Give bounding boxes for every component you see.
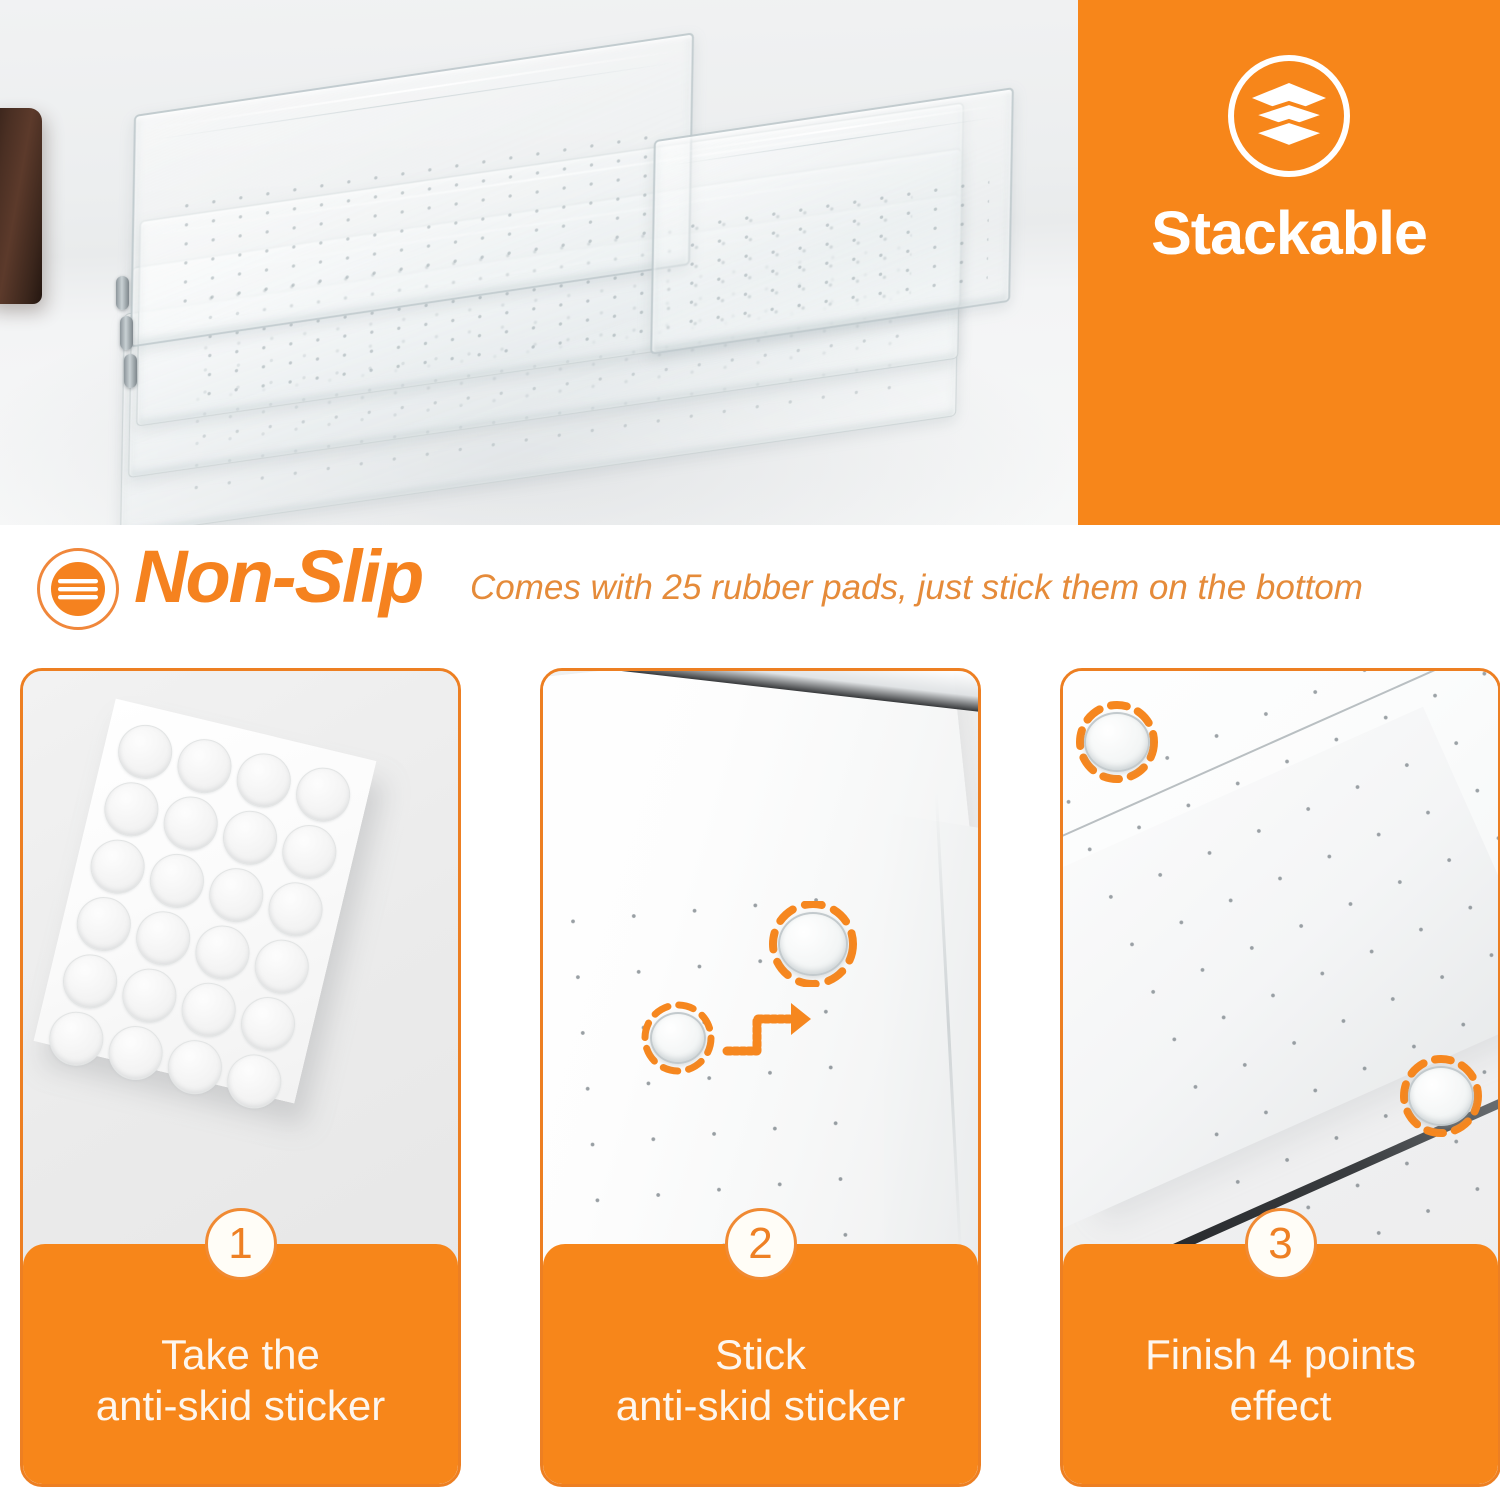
rubber-pad xyxy=(249,934,314,999)
tray-rim-shadow-line xyxy=(150,62,678,141)
rubber-pad xyxy=(263,877,328,942)
rubber-pad xyxy=(231,748,296,813)
tray-rim-shadow-line xyxy=(669,117,997,167)
rubber-pad xyxy=(71,891,136,956)
tray-edge-clip xyxy=(124,354,137,388)
tray-rim-highlight xyxy=(146,49,682,130)
step-3-caption-bar: 3 Finish 4 points effect xyxy=(1063,1244,1498,1484)
tray-edge-clip xyxy=(116,276,129,310)
step-3-image xyxy=(1063,671,1498,1284)
rubber-pad xyxy=(650,1012,706,1064)
step-1-caption-bar: 1 Take the anti-skid sticker xyxy=(23,1244,458,1484)
product-infographic-page: Stackable Non-Slip Comes with 25 rubber … xyxy=(0,0,1500,1487)
non-slip-lines-circle-icon xyxy=(37,548,119,630)
step-3-badge: 3 xyxy=(1245,1208,1317,1280)
highlighted-pad-top-left xyxy=(1073,701,1161,783)
product-photo xyxy=(0,0,1078,525)
stackable-title: Stackable xyxy=(1151,203,1427,264)
step-1-caption-text: Take the anti-skid sticker xyxy=(96,1329,385,1431)
rubber-pad xyxy=(176,977,241,1042)
tray-open-short xyxy=(650,87,1014,355)
rubber-pad xyxy=(172,734,237,799)
rubber-pad xyxy=(85,834,150,899)
step-card-3[interactable]: 3 Finish 4 points effect xyxy=(1060,668,1500,1487)
step-card-2[interactable]: 2 Stick anti-skid sticker xyxy=(540,668,981,1487)
step-3-caption-text: Finish 4 points effect xyxy=(1145,1329,1416,1431)
rubber-pad xyxy=(778,912,848,976)
rubber-pad xyxy=(144,848,209,913)
rubber-pad xyxy=(277,819,342,884)
tray-dot-texture xyxy=(677,173,989,330)
highlighted-pad-bottom-right xyxy=(1397,1055,1485,1137)
rubber-pad xyxy=(217,805,282,870)
step-card-1[interactable]: 1 Take the anti-skid sticker xyxy=(20,668,461,1487)
step-2-badge: 2 xyxy=(725,1208,797,1280)
stackable-feature-panel: Stackable xyxy=(1078,0,1500,525)
rubber-pad xyxy=(113,719,178,784)
rubber-pad xyxy=(99,777,164,842)
rubber-pad xyxy=(204,863,269,928)
stacked-trays-group xyxy=(96,58,1066,498)
rubber-pad xyxy=(291,762,356,827)
rubber-pad xyxy=(1408,1066,1474,1126)
step-2-image xyxy=(543,671,978,1284)
rubber-pad xyxy=(235,992,300,1057)
step-1-badge: 1 xyxy=(205,1208,277,1280)
placement-arrow-icon xyxy=(719,985,837,1081)
rubber-pad xyxy=(58,949,123,1014)
hero-section: Stackable xyxy=(0,0,1500,525)
tray-edge-clip xyxy=(120,316,133,350)
step-2-caption-bar: 2 Stick anti-skid sticker xyxy=(543,1244,978,1484)
non-slip-header: Non-Slip Comes with 25 rubber pads, just… xyxy=(0,534,1500,652)
rubber-pad xyxy=(1084,712,1150,772)
rubber-pad xyxy=(190,920,255,985)
non-slip-subtitle: Comes with 25 rubber pads, just stick th… xyxy=(470,569,1490,608)
rubber-pad xyxy=(158,791,223,856)
steps-section: 1 Take the anti-skid sticker xyxy=(0,668,1500,1487)
tray-rim-highlight xyxy=(666,104,1002,155)
non-slip-title: Non-Slip xyxy=(134,540,422,614)
background-brown-object xyxy=(0,108,42,304)
highlighted-pad-upper xyxy=(767,901,859,987)
highlighted-pad-lower xyxy=(639,1001,717,1075)
layers-stack-icon xyxy=(1228,55,1350,177)
rubber-pad xyxy=(117,963,182,1028)
step-1-image xyxy=(23,671,458,1284)
rubber-pad xyxy=(131,906,196,971)
step-2-caption-text: Stick anti-skid sticker xyxy=(616,1329,905,1431)
